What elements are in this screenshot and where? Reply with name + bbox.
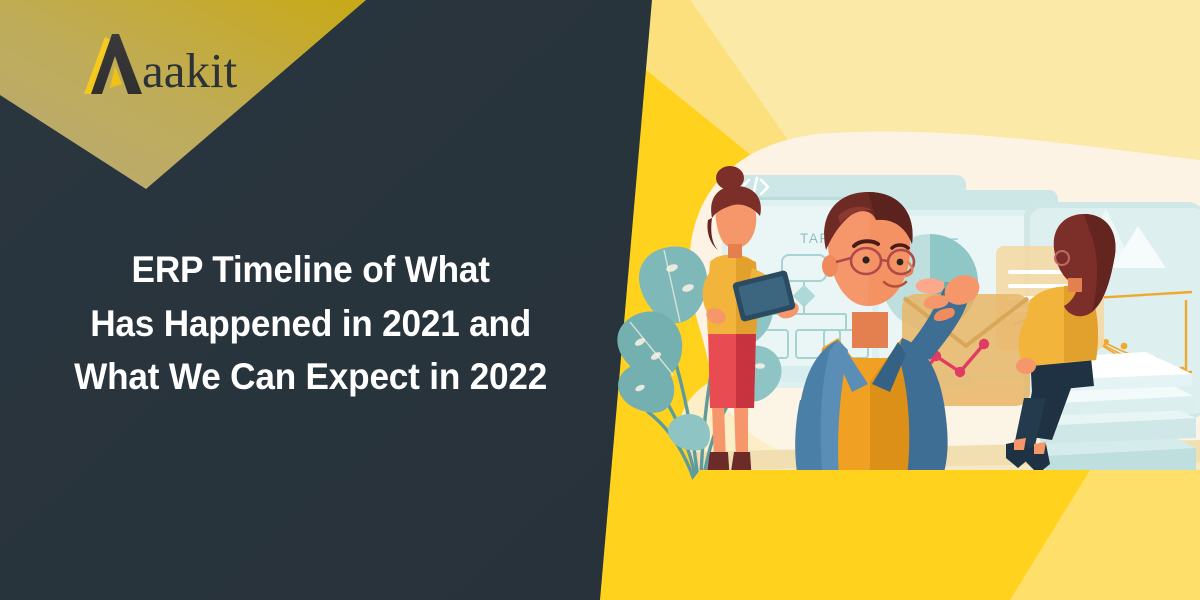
aakit-chevron-mark bbox=[84, 32, 146, 98]
headline-line-2: Has Happened in 2021 and bbox=[13, 297, 608, 351]
brand-logo[interactable]: aakit bbox=[84, 30, 237, 100]
headline-line-3: What We Can Expect in 2022 bbox=[13, 350, 608, 404]
headline-line-1: ERP Timeline of What bbox=[13, 243, 608, 297]
logo-wordmark: aakit bbox=[142, 46, 237, 95]
page-title: ERP Timeline of What Has Happened in 202… bbox=[0, 243, 608, 404]
erp-timeline-banner: TARGET bbox=[0, 0, 1200, 600]
